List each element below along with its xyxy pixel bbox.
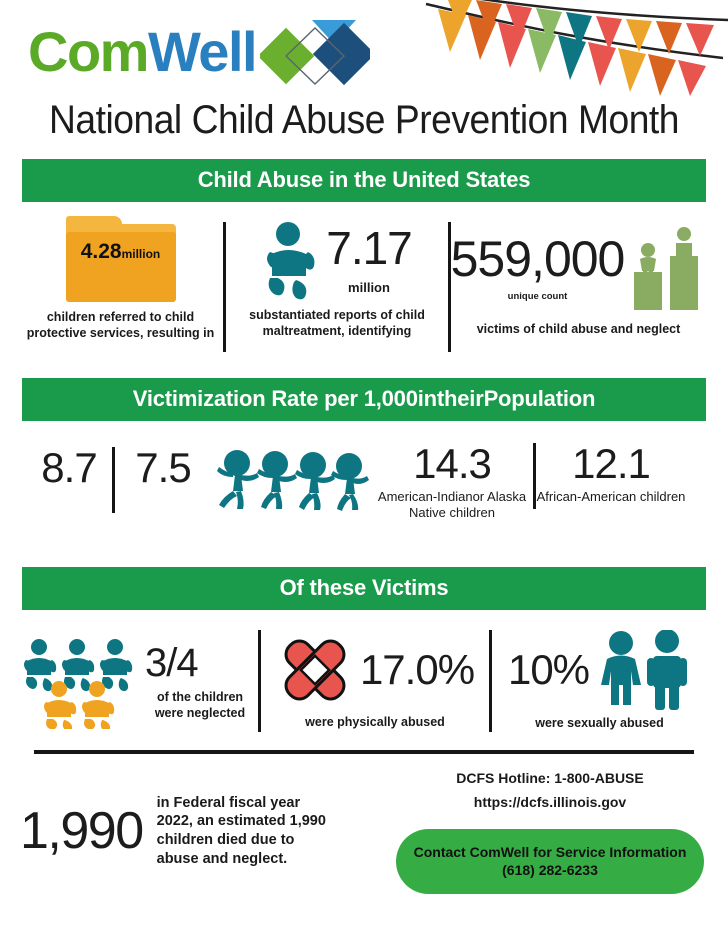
stat-caption-referred: children referred to child protective se… [26,310,216,341]
stat-number-17pct: 17.0% [360,650,474,690]
contact-cta-line2: (618) 282-6233 [412,861,688,880]
logo-wordmark: ComWell [28,24,256,80]
stat-number-143: 14.3 [413,443,491,485]
stat-unit-unique-count: unique count [508,291,568,302]
page-header: ComWell [0,0,728,92]
stat-rate-143: 14.3 American-Indianor Alaska Native chi… [371,439,533,522]
stat-rate-75: 7.5 [115,439,211,489]
stat-number-428: 4.28 [81,240,122,263]
bunting-decoration-icon [418,0,728,96]
stat-number-1990: 1,990 [20,801,143,861]
contact-block: DCFS Hotline: 1-800-ABUSE https://dcfs.i… [392,768,708,894]
stat-number-121: 12.1 [572,443,650,485]
stat-referred-children: 4.28million children referred to child p… [18,216,223,356]
stat-caption-physical: were physically abused [305,715,445,731]
bar-chart-people-icon [630,226,706,312]
fatality-stat: 1,990 in Federal fiscal year 2022, an es… [20,768,392,894]
jumping-children-icon [213,449,369,511]
section-banner-victimization-rate: Victimization Rate per 1,000intheirPopul… [22,378,706,421]
stat-number-three-quarters: 3/4 [145,644,198,682]
contact-comwell-button[interactable]: Contact ComWell for Service Information … [396,829,704,895]
stat-unique-victims: 559,000 unique count victims of child ab… [451,216,706,356]
jumping-children-group [211,439,371,511]
stat-number-87: 8.7 [41,447,96,489]
folder-icon: 4.28million [66,216,176,302]
stat-number-559000: 559,000 [451,236,625,284]
stat-caption-substantiated: substantiated reports of child maltreatm… [232,308,442,339]
comwell-logo: ComWell [28,14,370,90]
stat-number-717: 7.17 [326,227,412,271]
bandage-cross-icon [276,631,354,709]
dcfs-website-link[interactable]: https://dcfs.illinois.gov [474,792,626,812]
stat-caption-neglected: of the children were neglected [145,690,255,721]
stat-number-10pct: 10% [508,650,589,690]
page-footer: 1,990 in Federal fiscal year 2022, an es… [0,754,728,894]
stat-rate-121: 12.1 African-American children [536,439,686,505]
stat-sexually-abused: 10% were sexually abused [492,624,707,736]
stat-number-75: 7.5 [135,447,190,489]
stat-caption-fatalities: in Federal fiscal year 2022, an estimate… [157,794,332,869]
page-title: National Child Abuse Prevention Month [25,98,702,143]
stat-caption-native: American-Indianor Alaska Native children [371,489,533,522]
stat-substantiated-reports: 7.17 million substantiated reports of ch… [226,216,448,356]
stat-unit-million-2: million [348,280,390,295]
stat-unit-million: million [122,247,161,261]
stat-physically-abused: 17.0% were physically abused [261,624,489,736]
stats-row-3: 3/4 of the children were neglected 17.0%… [0,624,728,736]
section-banner-of-these-victims: Of these Victims [22,567,706,610]
stats-row-2: 8.7 7.5 14.3 American [0,439,728,543]
logo-text-well: Well [148,20,256,83]
man-woman-icon [595,630,691,710]
stat-rate-87: 8.7 [26,439,112,489]
stat-caption-sexual: were sexually abused [535,716,664,732]
diamonds-logo-icon [260,14,370,90]
stat-caption-african-american: African-American children [537,489,686,505]
contact-cta-line1: Contact ComWell for Service Information [412,843,688,862]
stats-row-1: 4.28million children referred to child p… [0,216,728,356]
section-banner-child-abuse-us: Child Abuse in the United States [22,159,706,202]
stat-neglected: 3/4 of the children were neglected [18,624,258,736]
five-babies-icon [21,637,139,729]
baby-icon [262,222,320,300]
logo-text-com: Com [28,20,148,83]
dcfs-hotline: DCFS Hotline: 1-800-ABUSE [456,768,643,788]
stat-caption-victims: victims of child abuse and neglect [454,322,704,338]
